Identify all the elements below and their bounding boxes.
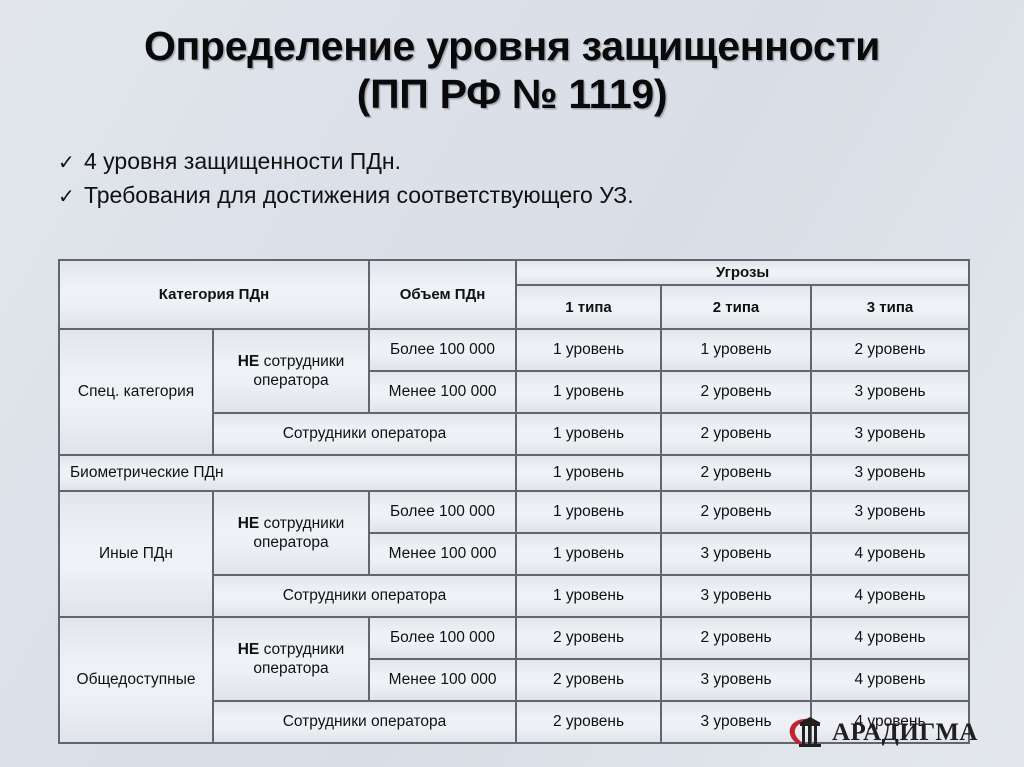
cell-level-threat1: 1 уровень xyxy=(516,533,661,575)
row-subject-label: НЕ сотрудники оператора xyxy=(213,491,369,575)
cell-level-threat1: 1 уровень xyxy=(516,575,661,617)
cell-level-threat3: 2 уровень xyxy=(811,329,969,371)
header-row-top: Категория ПДн Объем ПДн Угрозы xyxy=(59,260,969,285)
not-line2: оператора xyxy=(253,660,328,677)
header-threat-type-2: 2 типа xyxy=(661,285,811,329)
paradigma-logo: АРАДИГМА xyxy=(786,713,978,753)
cell-level-threat2: 2 уровень xyxy=(661,617,811,659)
row-volume: Менее 100 000 xyxy=(369,659,516,701)
row-subject-label: НЕ сотрудники оператора xyxy=(213,617,369,701)
not-prefix: НЕ xyxy=(238,515,260,532)
table-row: Иные ПДн НЕ сотрудники оператора Более 1… xyxy=(59,491,969,533)
header-threats: Угрозы xyxy=(516,260,969,285)
not-line2: оператора xyxy=(253,372,328,389)
cell-level-threat1: 2 уровень xyxy=(516,617,661,659)
row-volume: Менее 100 000 xyxy=(369,533,516,575)
list-item: ✓ Требования для достижения соответствую… xyxy=(58,179,1024,212)
cell-level-threat2: 1 уровень xyxy=(661,329,811,371)
cell-level-threat3: 3 уровень xyxy=(811,491,969,533)
bullet-text: Требования для достижения соответствующе… xyxy=(84,179,634,212)
row-employees: Сотрудники оператора xyxy=(213,413,516,455)
cell-level-threat3: 3 уровень xyxy=(811,371,969,413)
header-volume: Объем ПДн xyxy=(369,260,516,329)
row-volume: Более 100 000 xyxy=(369,329,516,371)
table-row: Общедоступные НЕ сотрудники оператора Бо… xyxy=(59,617,969,659)
header-category: Категория ПДн xyxy=(59,260,369,329)
row-category-label: Общедоступные xyxy=(59,617,213,743)
row-volume: Более 100 000 xyxy=(369,617,516,659)
protection-levels-table: Категория ПДн Объем ПДн Угрозы 1 типа 2 … xyxy=(58,259,970,744)
row-employees: Сотрудники оператора xyxy=(213,701,516,743)
cell-level-threat2: 3 уровень xyxy=(661,575,811,617)
row-volume: Менее 100 000 xyxy=(369,371,516,413)
row-category-label: Спец. категория xyxy=(59,329,213,455)
table-body: Спец. категория НЕ сотрудники оператора … xyxy=(59,329,969,743)
title-line-1: Определение уровня защищенности xyxy=(144,23,880,69)
cell-level-threat1: 1 уровень xyxy=(516,371,661,413)
page-title: Определение уровня защищенности (ПП РФ №… xyxy=(0,0,1024,119)
cell-level-threat3: 4 уровень xyxy=(811,575,969,617)
logo-text: АРАДИГМА xyxy=(832,719,978,747)
bullet-text: 4 уровня защищенности ПДн. xyxy=(84,145,401,178)
cell-level-threat2: 2 уровень xyxy=(661,371,811,413)
title-line-2: (ПП РФ № 1119) xyxy=(40,70,984,118)
cell-level-threat1: 1 уровень xyxy=(516,329,661,371)
table-header: Категория ПДн Объем ПДн Угрозы 1 типа 2 … xyxy=(59,260,969,329)
cell-level-threat1: 2 уровень xyxy=(516,701,661,743)
cell-level-threat1: 1 уровень xyxy=(516,413,661,455)
logo-mark-icon xyxy=(786,714,830,752)
not-line2: оператора xyxy=(253,534,328,551)
not-rest: сотрудники xyxy=(259,515,344,532)
not-rest: сотрудники xyxy=(259,641,344,658)
check-icon: ✓ xyxy=(58,149,84,177)
check-icon: ✓ xyxy=(58,183,84,211)
cell-level-threat3: 4 уровень xyxy=(811,617,969,659)
header-threat-type-3: 3 типа xyxy=(811,285,969,329)
header-threat-type-1: 1 типа xyxy=(516,285,661,329)
cell-level-threat2: 3 уровень xyxy=(661,659,811,701)
row-employees: Сотрудники оператора xyxy=(213,575,516,617)
table-row: Спец. категория НЕ сотрудники оператора … xyxy=(59,329,969,371)
not-rest: сотрудники xyxy=(259,353,344,370)
bullet-list: ✓ 4 уровня защищенности ПДн. ✓ Требовани… xyxy=(0,145,1024,212)
cell-level-threat3: 3 уровень xyxy=(811,413,969,455)
not-prefix: НЕ xyxy=(238,353,260,370)
cell-level-threat2: 2 уровень xyxy=(661,413,811,455)
table-row: Биометрические ПДн 1 уровень 2 уровень 3… xyxy=(59,455,969,491)
list-item: ✓ 4 уровня защищенности ПДн. xyxy=(58,145,1024,178)
cell-level-threat2: 2 уровень xyxy=(661,455,811,491)
cell-level-threat1: 1 уровень xyxy=(516,455,661,491)
not-prefix: НЕ xyxy=(238,641,260,658)
row-subject-label: НЕ сотрудники оператора xyxy=(213,329,369,413)
cell-level-threat2: 3 уровень xyxy=(661,533,811,575)
cell-level-threat3: 4 уровень xyxy=(811,659,969,701)
row-category-label: Иные ПДн xyxy=(59,491,213,617)
row-volume: Более 100 000 xyxy=(369,491,516,533)
cell-level-threat3: 4 уровень xyxy=(811,533,969,575)
protection-levels-table-wrapper: Категория ПДн Объем ПДн Угрозы 1 типа 2 … xyxy=(58,259,968,744)
cell-level-threat2: 2 уровень xyxy=(661,491,811,533)
slide-root: { "slide": { "title_line1": "Определение… xyxy=(0,0,1024,767)
row-category-label: Биометрические ПДн xyxy=(59,455,516,491)
cell-level-threat1: 2 уровень xyxy=(516,659,661,701)
cell-level-threat1: 1 уровень xyxy=(516,491,661,533)
cell-level-threat3: 3 уровень xyxy=(811,455,969,491)
